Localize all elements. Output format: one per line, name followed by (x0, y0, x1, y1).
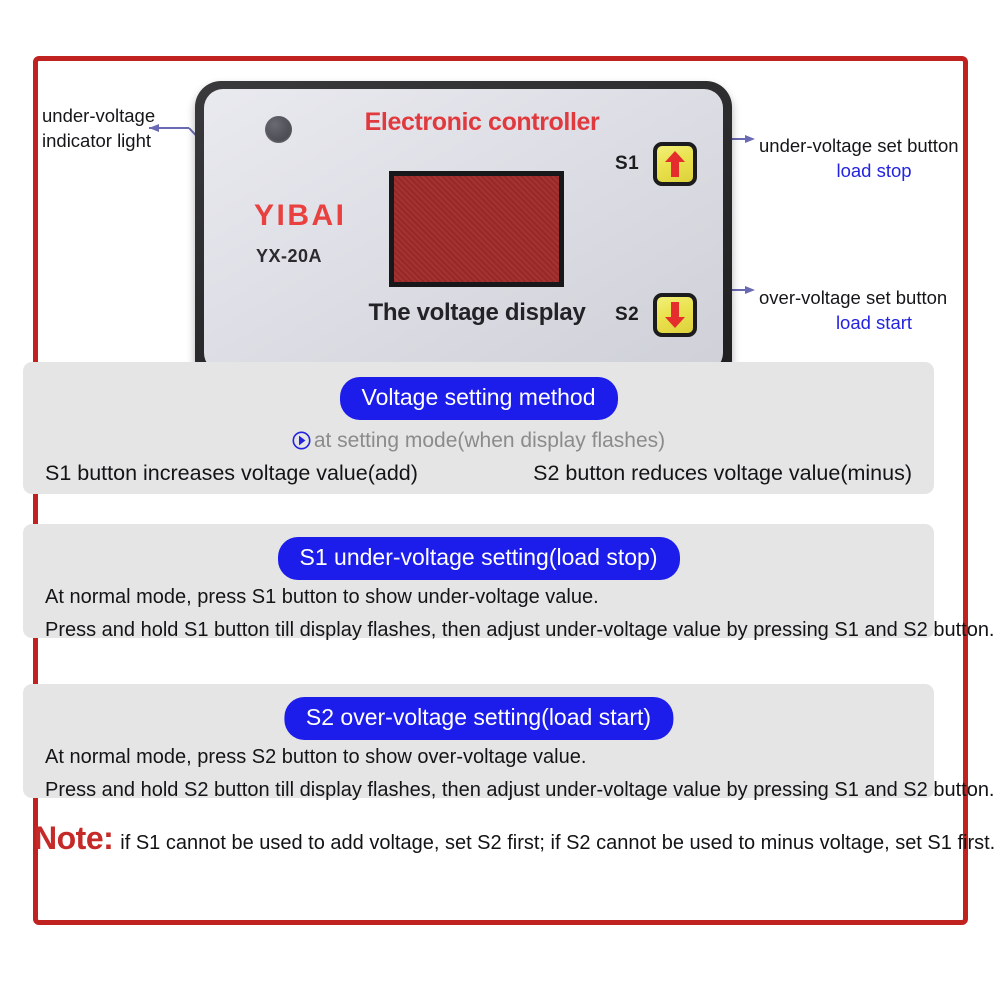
note-text: if S1 cannot be used to add voltage, set… (120, 832, 995, 855)
chevron-right-circle-icon (292, 431, 311, 456)
panel1-sub-mode: at setting mode(when display flashes) (23, 429, 934, 456)
callout-s2-label: over-voltage set button load start (759, 285, 989, 335)
brand-logo: YIBAI (254, 199, 347, 233)
callout-led-line2: indicator light (42, 130, 151, 151)
controller-device: Electronic controller YIBAI YX-20A The v… (195, 81, 732, 386)
callout-s1-main: under-voltage set button (759, 135, 959, 156)
device-illustration-area: under-voltage indicator light under-volt… (33, 56, 968, 401)
s2-button[interactable] (653, 293, 697, 337)
callout-s2-main: over-voltage set button (759, 287, 947, 308)
panel3-heading-pill: S2 over-voltage setting(load start) (284, 697, 673, 740)
voltage-display-screen (389, 171, 564, 287)
panel1-col-left: S1 button increases voltage value(add) (45, 461, 418, 486)
arrow-down-icon (664, 301, 686, 329)
page-root: under-voltage indicator light under-volt… (0, 0, 1000, 1000)
s1-button[interactable] (653, 142, 697, 186)
panel3-line2: Press and hold S2 button till display fl… (45, 779, 995, 802)
panel-voltage-setting-method: Voltage setting method at setting mode(w… (23, 362, 934, 494)
led-indicator-icon (265, 116, 292, 143)
callout-led-label: under-voltage indicator light (42, 103, 192, 153)
callout-s2-sub: load start (759, 310, 989, 335)
s2-key-label: S2 (615, 304, 639, 326)
arrow-up-icon (664, 150, 686, 178)
note-row: Note: if S1 cannot be used to add voltag… (34, 820, 995, 857)
s1-key-label: S1 (615, 153, 639, 175)
device-title: Electronic controller (352, 108, 612, 137)
panel1-heading-pill: Voltage setting method (340, 377, 618, 420)
note-keyword: Note: (34, 820, 113, 857)
panel1-col-right: S2 button reduces voltage value(minus) (533, 461, 912, 486)
panel3-line1: At normal mode, press S2 button to show … (45, 746, 586, 769)
device-front-panel: Electronic controller YIBAI YX-20A The v… (204, 89, 723, 372)
panel1-sub-mode-text: at setting mode(when display flashes) (314, 429, 665, 452)
model-code: YX-20A (256, 246, 322, 267)
callout-led-line1: under-voltage (42, 105, 155, 126)
callout-s1-label: under-voltage set button load stop (759, 133, 989, 183)
display-caption: The voltage display (362, 299, 592, 327)
panel2-line2: Press and hold S1 button till display fl… (45, 619, 995, 642)
panel-s2-over-voltage-setting: S2 over-voltage setting(load start) At n… (23, 684, 934, 798)
panel2-heading-pill: S1 under-voltage setting(load stop) (278, 537, 680, 580)
callout-s1-sub: load stop (759, 158, 989, 183)
panel2-line1: At normal mode, press S1 button to show … (45, 586, 599, 609)
panel1-columns: S1 button increases voltage value(add) S… (45, 461, 912, 486)
panel-s1-under-voltage-setting: S1 under-voltage setting(load stop) At n… (23, 524, 934, 638)
